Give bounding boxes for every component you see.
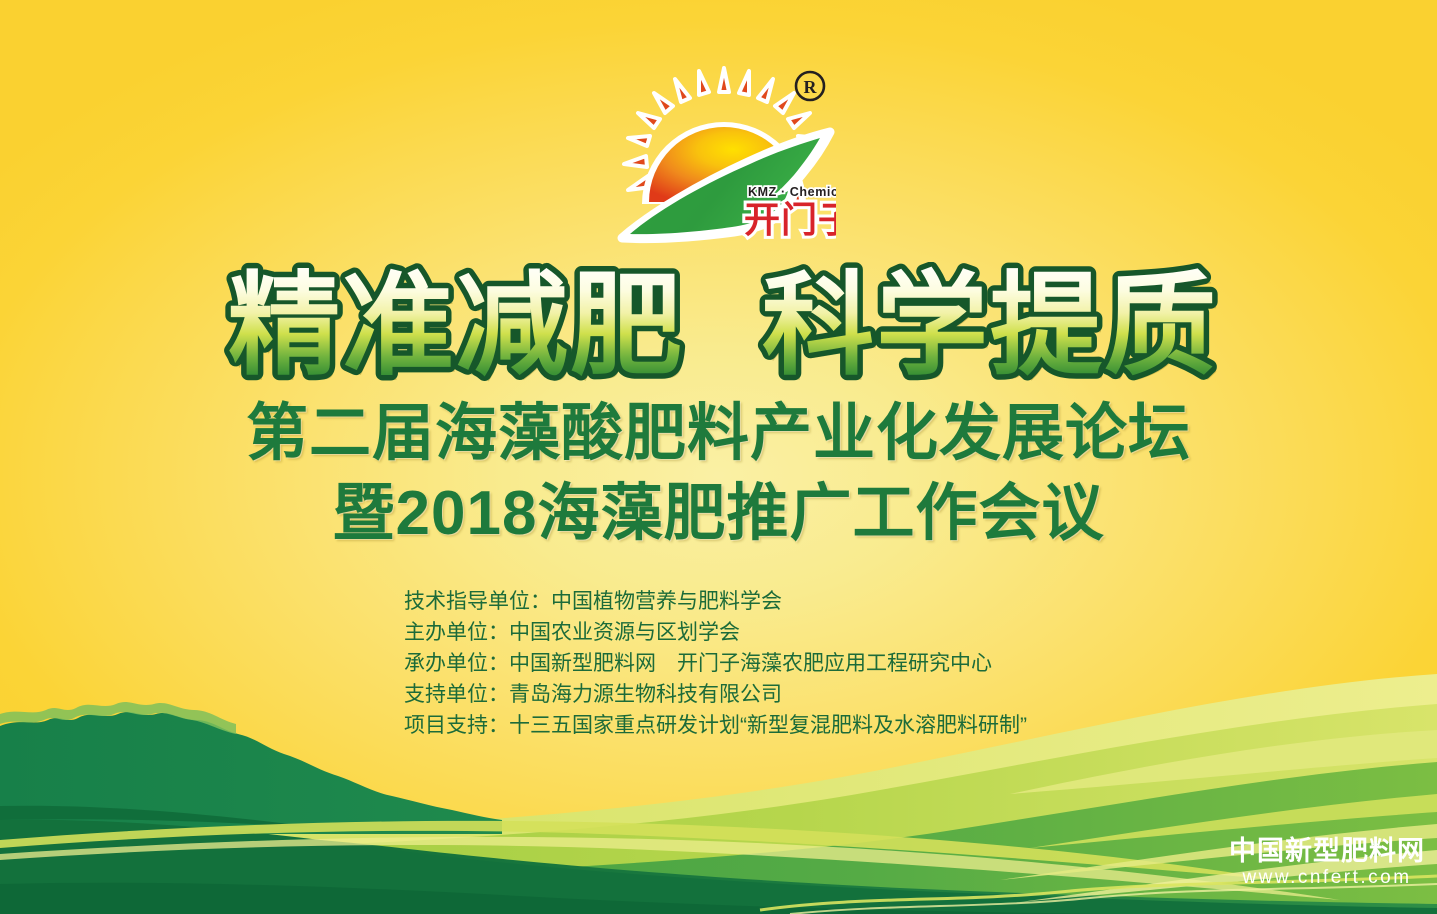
conference-banner: R KMZ · Chemical 开门子 [0, 0, 1437, 914]
subtitle-line-1: 第二届海藻酸肥料产业化发展论坛 [0, 398, 1437, 470]
watermark-site-name-cn: 中国新型肥料网 [1229, 836, 1425, 866]
info-line-host: 主办单位：中国农业资源与区划学会 [404, 617, 1164, 648]
watermark-site-url: www.cnfert.com [1229, 866, 1425, 890]
site-watermark: 中国新型肥料网 www.cnfert.com [1229, 836, 1425, 890]
info-line-technical-guidance: 技术指导单位：中国植物营养与肥料学会 [404, 586, 1164, 617]
registered-mark-icon: R [796, 72, 824, 100]
organizer-info-block: 技术指导单位：中国植物营养与肥料学会 主办单位：中国农业资源与区划学会 承办单位… [404, 586, 1164, 741]
kmz-chemical-logo: R KMZ · Chemical 开门子 [616, 62, 836, 247]
info-line-organizer: 承办单位：中国新型肥料网 开门子海藻农肥应用工程研究中心 [404, 648, 1164, 679]
info-line-supporter: 支持单位：青岛海力源生物科技有限公司 [404, 679, 1164, 710]
svg-text:R: R [804, 77, 818, 97]
logo-brand-cn: 开门子 [744, 200, 836, 241]
info-line-project-support: 项目支持：十三五国家重点研发计划“新型复混肥料及水溶肥料研制” [404, 710, 1164, 741]
headline-part2: 科学提质 [762, 262, 1218, 391]
headline-part1: 精准减肥 [228, 262, 684, 391]
subtitle-line-2: 暨2018海藻肥推广工作会议 [0, 478, 1437, 550]
headline: 精准减肥 科学提质 精准减肥 科学提质 精准减肥 科学提质 [0, 262, 1437, 392]
logo-brand-en: KMZ · Chemical [748, 185, 836, 199]
